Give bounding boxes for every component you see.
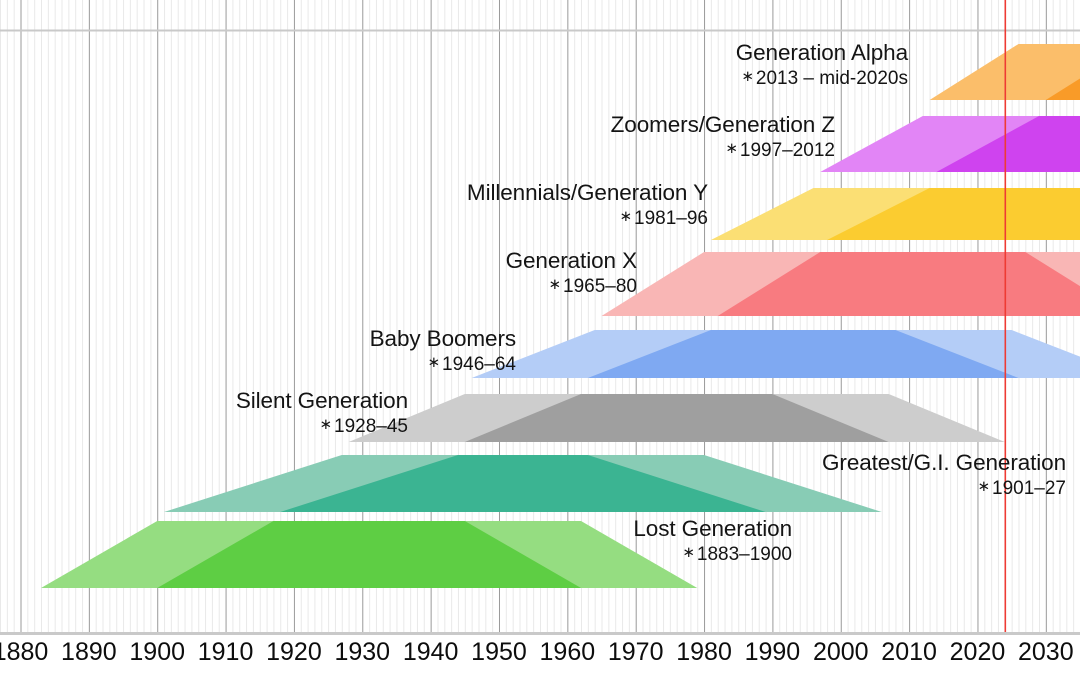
generation-years-value: 1997–2012 (740, 140, 835, 161)
axis-tick-label: 1900 (129, 638, 185, 667)
generation-years: ∗2013 – mid-2020s (736, 69, 908, 88)
generation-years: ∗1883–1900 (633, 545, 792, 564)
axis-rule (0, 632, 1080, 635)
generation-name: Generation X (506, 250, 637, 273)
axis-tick-label: 1950 (471, 638, 527, 667)
birth-star-icon: ∗ (548, 276, 563, 293)
axis-tick-label: 1940 (403, 638, 459, 667)
axis-tick-label: 1960 (540, 638, 596, 667)
generation-labels-layer: Generation Alpha∗2013 – mid-2020sZoomers… (0, 0, 1080, 632)
generation-years-value: 1981–96 (634, 208, 708, 229)
generation-label-3: Millennials/Generation Y∗1981–96 (467, 182, 708, 228)
generation-years: ∗1981–96 (467, 209, 708, 228)
generation-label-4: Generation X∗1965–80 (506, 250, 637, 296)
axis-tick-label: 1980 (676, 638, 732, 667)
generation-years: ∗1928–45 (236, 417, 408, 436)
generation-name: Greatest/G.I. Generation (822, 452, 1066, 475)
axis-tick-label: 2020 (950, 638, 1006, 667)
axis-tick-label: 2030 (1018, 638, 1074, 667)
generation-years: ∗1965–80 (506, 277, 637, 296)
birth-star-icon: ∗ (619, 208, 634, 225)
generation-years-value: 1928–45 (334, 416, 408, 437)
birth-star-icon: ∗ (682, 544, 697, 561)
birth-star-icon: ∗ (977, 478, 992, 495)
axis-tick-label: 2010 (881, 638, 937, 667)
axis-tick-label: 1910 (198, 638, 254, 667)
generation-name: Millennials/Generation Y (467, 182, 708, 205)
generation-label-1: Generation Alpha∗2013 – mid-2020s (736, 42, 908, 88)
axis-tick-label: 1990 (745, 638, 801, 667)
generation-years-value: 1883–1900 (697, 544, 792, 565)
generation-years: ∗1946–64 (370, 355, 516, 374)
birth-star-icon: ∗ (741, 68, 756, 85)
axis-tick-label: 2000 (813, 638, 869, 667)
generation-label-6: Silent Generation∗1928–45 (236, 390, 408, 436)
x-axis: 1880189019001910192019301940195019601970… (0, 632, 1080, 675)
birth-star-icon: ∗ (725, 140, 740, 157)
generation-label-2: Zoomers/Generation Z∗1997–2012 (611, 114, 835, 160)
birth-star-icon: ∗ (319, 416, 334, 433)
axis-tick-label: 1920 (266, 638, 322, 667)
generation-name: Generation Alpha (736, 42, 908, 65)
axis-tick-label: 1890 (61, 638, 117, 667)
generation-name: Lost Generation (633, 518, 792, 541)
axis-tick-label: 1880 (0, 638, 48, 667)
generation-years: ∗1901–27 (822, 479, 1066, 498)
generation-years-value: 1946–64 (442, 354, 516, 375)
generation-name: Zoomers/Generation Z (611, 114, 835, 137)
generation-years-value: 1965–80 (563, 276, 637, 297)
generation-years-value: 1901–27 (992, 478, 1066, 499)
generation-label-8: Lost Generation∗1883–1900 (633, 518, 792, 564)
axis-tick-label: 1970 (608, 638, 664, 667)
birth-star-icon: ∗ (427, 354, 442, 371)
generation-label-7: Greatest/G.I. Generation∗1901–27 (822, 452, 1066, 498)
generation-name: Silent Generation (236, 390, 408, 413)
plot-area: Generation Alpha∗2013 – mid-2020sZoomers… (0, 0, 1080, 632)
generation-label-5: Baby Boomers∗1946–64 (370, 328, 516, 374)
generations-timeline-chart: Generation Alpha∗2013 – mid-2020sZoomers… (0, 0, 1080, 675)
generation-name: Baby Boomers (370, 328, 516, 351)
axis-tick-label: 1930 (334, 638, 390, 667)
generation-years-value: 2013 – mid-2020s (756, 68, 908, 89)
generation-years: ∗1997–2012 (611, 141, 835, 160)
